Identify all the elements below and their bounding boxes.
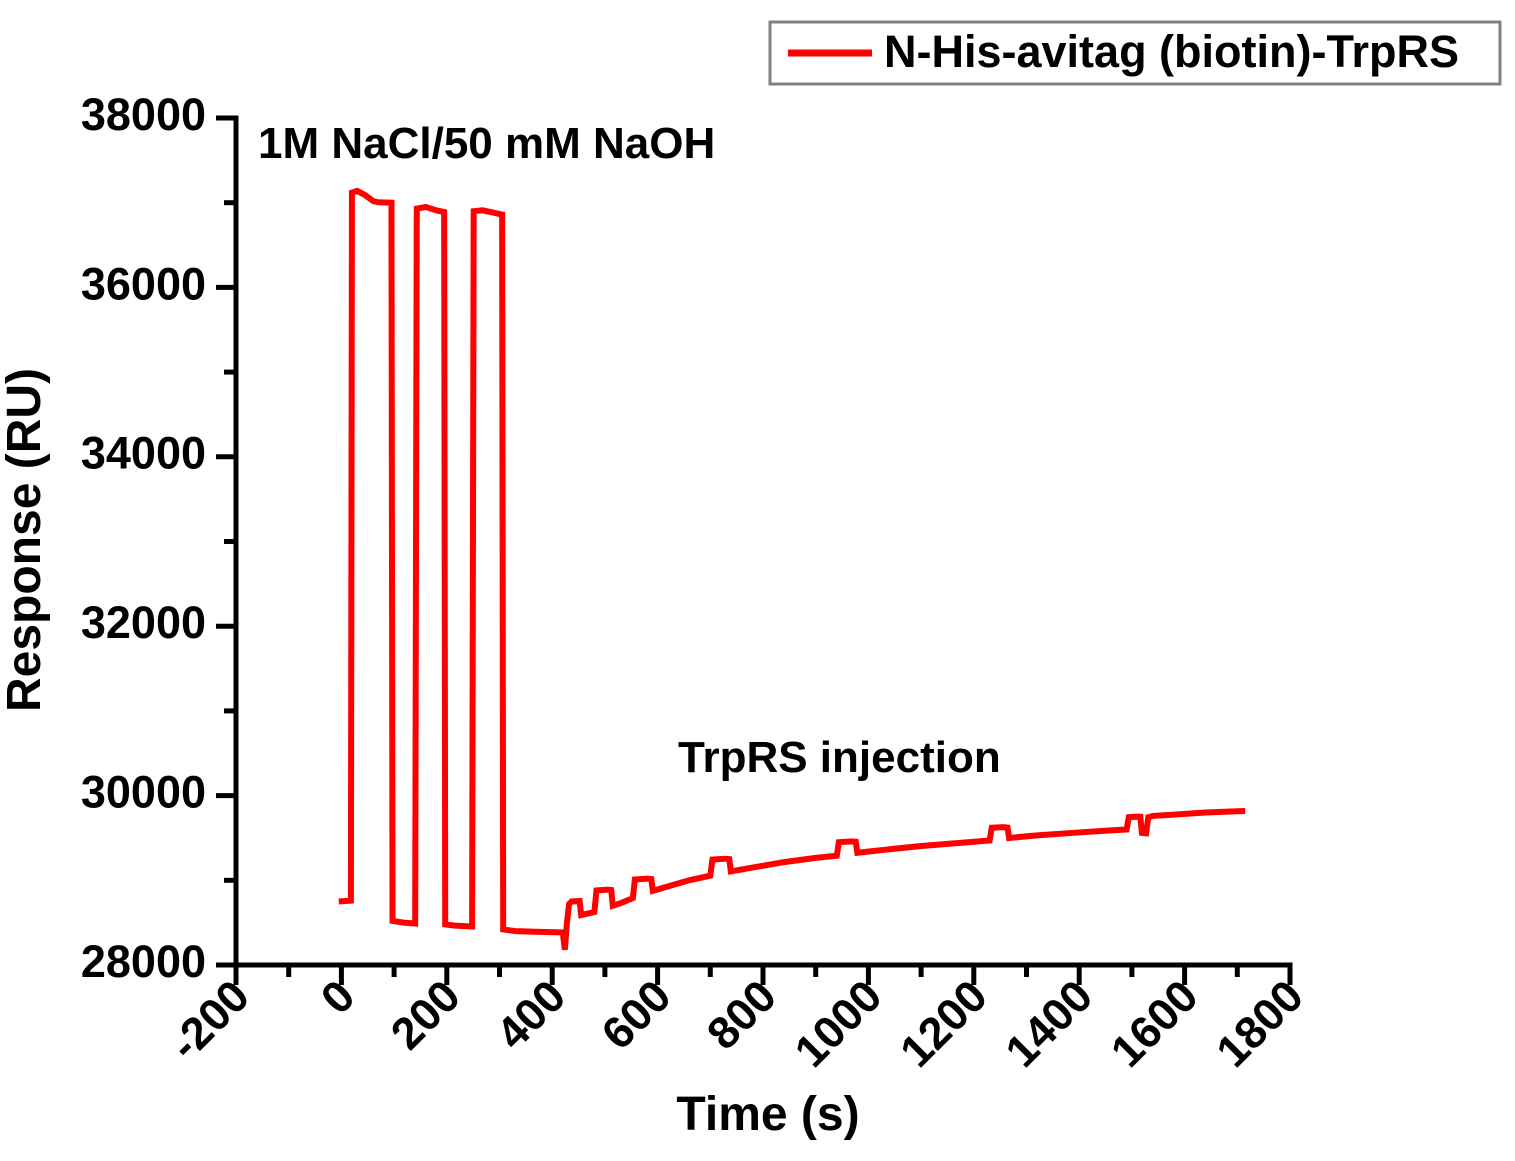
legend: N-His-avitag (biotin)-TrpRS	[770, 22, 1500, 84]
spr-sensorgram-plot: 280003000032000340003600038000 -20002004…	[0, 0, 1515, 1161]
annotation-regeneration: 1M NaCl/50 mM NaOH	[258, 119, 715, 168]
y-tick-label: 38000	[81, 89, 206, 140]
y-tick-label: 34000	[81, 428, 206, 479]
legend-entry-label: N-His-avitag (biotin)-TrpRS	[884, 26, 1459, 77]
chart-container: 280003000032000340003600038000 -20002004…	[0, 0, 1515, 1161]
y-axis-title: Response (RU)	[0, 368, 51, 712]
y-tick-label: 32000	[81, 597, 206, 648]
x-axis-title: Time (s)	[676, 1088, 859, 1141]
y-tick-label: 36000	[81, 258, 206, 309]
annotation-injection: TrpRS injection	[678, 733, 1001, 782]
y-tick-label: 28000	[81, 936, 206, 987]
y-tick-label: 30000	[81, 766, 206, 817]
